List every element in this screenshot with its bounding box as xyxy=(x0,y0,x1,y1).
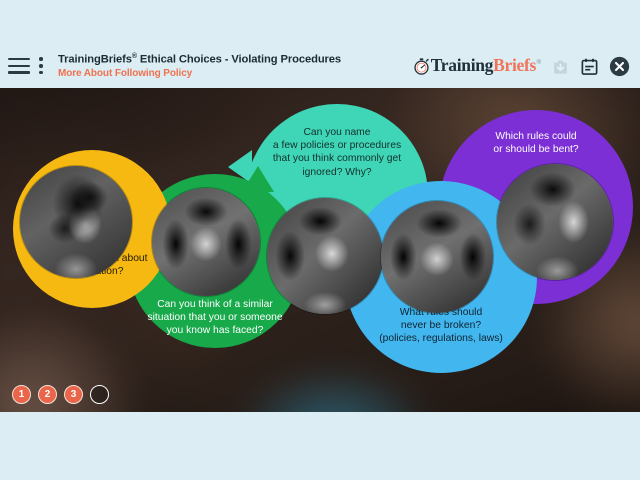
header-titles: TrainingBriefs® Ethical Choices - Violat… xyxy=(58,53,341,79)
portrait-5 xyxy=(497,164,613,280)
portrait-3-image xyxy=(267,198,383,314)
portrait-1-image xyxy=(20,166,132,278)
bubble-4-line-2: never be broken? xyxy=(336,319,546,332)
portrait-2-image xyxy=(152,188,260,296)
bubble-3-line-3: that you think commonly get xyxy=(237,152,437,165)
pagination-dot-2[interactable]: 2 xyxy=(38,385,57,404)
notes-icon[interactable] xyxy=(580,57,599,76)
bubble-3-line-2: a few policies or procedures xyxy=(237,139,437,152)
bubble-5-line-2: or should be bent? xyxy=(436,143,636,156)
page-subtitle: More About Following Policy xyxy=(58,68,341,80)
portrait-3 xyxy=(267,198,383,314)
download-icon[interactable] xyxy=(551,57,570,76)
bubble-3-line-1: Can you name xyxy=(237,126,437,139)
bubble-5-line-1: Which rules could xyxy=(436,130,636,143)
bubble-2-line-3: you know has faced? xyxy=(115,324,315,337)
pagination: 1 2 3 xyxy=(12,385,109,404)
trainingbriefs-logo: TrainingBriefs® xyxy=(413,57,541,75)
brand-wordmark: TrainingBriefs® xyxy=(431,57,541,75)
page-title-rest: Ethical Choices - Violating Procedures xyxy=(137,54,341,66)
header-right-controls: TrainingBriefs® xyxy=(413,56,630,77)
brand-registered-mark: ® xyxy=(536,58,541,66)
pagination-dot-3[interactable]: 3 xyxy=(64,385,83,404)
portrait-4 xyxy=(381,201,493,313)
page-title-brand: TrainingBriefs xyxy=(58,54,132,66)
portrait-2 xyxy=(152,188,260,296)
portrait-1 xyxy=(20,166,132,278)
pagination-dot-1[interactable]: 1 xyxy=(12,385,31,404)
brand-word-training: Training xyxy=(431,55,493,75)
training-player-window: TrainingBriefs® Ethical Choices - Violat… xyxy=(0,0,640,480)
portrait-5-image xyxy=(497,164,613,280)
stopwatch-icon xyxy=(413,58,430,75)
video-stage[interactable]: Can you name a few policies or procedure… xyxy=(0,88,640,412)
page-title: TrainingBriefs® Ethical Choices - Violat… xyxy=(58,53,341,67)
portrait-4-image xyxy=(381,201,493,313)
close-icon[interactable] xyxy=(609,56,630,77)
bubble-5-text: Which rules could or should be bent? xyxy=(436,130,636,156)
window-bottom-padding xyxy=(0,412,640,480)
discussion-bubbles-graphic: Can you name a few policies or procedure… xyxy=(0,88,640,412)
kebab-menu-icon[interactable] xyxy=(38,57,44,74)
header-left-controls: TrainingBriefs® Ethical Choices - Violat… xyxy=(8,53,341,79)
pagination-dot-4[interactable] xyxy=(90,385,109,404)
player-header: TrainingBriefs® Ethical Choices - Violat… xyxy=(0,44,640,88)
window-top-padding xyxy=(0,0,640,44)
bubble-4-line-3: (policies, regulations, laws) xyxy=(336,332,546,345)
hamburger-icon[interactable] xyxy=(8,58,30,74)
brand-word-briefs: Briefs xyxy=(493,55,536,75)
